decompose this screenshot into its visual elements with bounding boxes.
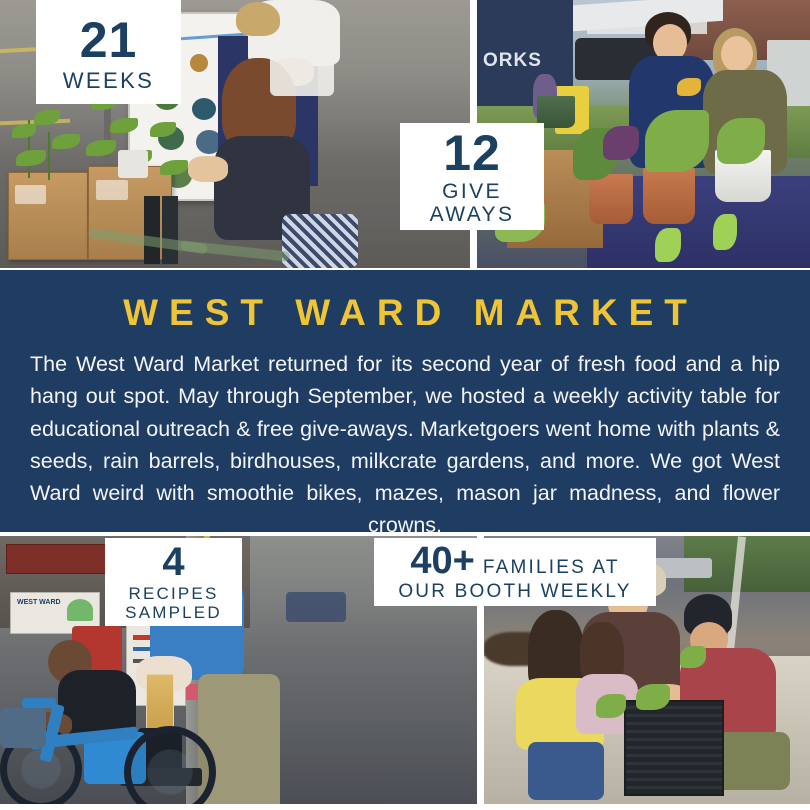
- seedling: [596, 694, 626, 718]
- stat-badge-weeks: 21 WEEKS: [36, 0, 181, 104]
- child-seated-background: [0, 708, 46, 748]
- held-flower: [677, 78, 701, 96]
- whiteboard-sticker: [190, 54, 208, 72]
- terracotta-pot: [643, 168, 695, 224]
- plant-leaf: [86, 140, 116, 156]
- chalk-writing: [180, 240, 290, 261]
- person-bag: [270, 52, 334, 96]
- stat-label-families-line1: FAMILIES AT: [483, 558, 620, 577]
- seedling: [680, 646, 706, 668]
- plant-leaf: [16, 150, 46, 166]
- poster-body: The West Ward Market returned for its se…: [28, 348, 782, 542]
- stat-badge-families: 40+ FAMILIES AT OUR BOOTH WEEKLY: [374, 538, 656, 606]
- tent-banner-text: ORKS: [483, 50, 542, 72]
- plant-leaf: [52, 134, 80, 149]
- smoothie-pitcher: [146, 674, 174, 732]
- stat-label-recipes-line2: SAMPLED: [125, 604, 222, 621]
- stat-label-giveaways-line2: AWAYS: [430, 204, 515, 225]
- stat-badge-recipes: 4 RECIPES SAMPLED: [105, 538, 242, 626]
- paper-leaf-cutout: [655, 228, 681, 262]
- stat-number-families: 40+: [410, 542, 474, 581]
- nursery-pot: [144, 196, 160, 264]
- stat-number-giveaways: 12: [443, 128, 501, 179]
- milk-crate-garden: [624, 700, 724, 796]
- background-vehicle: [286, 592, 346, 622]
- poster-title: WEST WARD MARKET: [28, 292, 782, 334]
- person-hair: [580, 622, 624, 682]
- person-pants: [528, 742, 604, 800]
- white-bucket: [118, 150, 148, 178]
- stat-number-recipes: 4: [162, 542, 184, 583]
- seedling: [636, 684, 670, 710]
- stat-label-giveaways-line1: GIVE: [442, 181, 502, 202]
- person-hair: [236, 2, 280, 36]
- infographic-poster: ORKS: [0, 0, 810, 810]
- spider-plant: [645, 110, 709, 172]
- paper-leaf-cutout: [713, 214, 737, 250]
- market-sign-text: WEST WARD: [17, 599, 61, 606]
- stat-families-line1: 40+ FAMILIES AT: [410, 542, 619, 581]
- stat-number-weeks: 21: [80, 15, 138, 66]
- person-arm: [188, 156, 228, 182]
- stat-label-families-line2: OUR BOOTH WEEKLY: [398, 582, 631, 601]
- stat-label-recipes-line1: RECIPES: [128, 585, 218, 602]
- person-head: [721, 36, 753, 72]
- sign-logo-icon: [67, 599, 93, 621]
- stat-badge-giveaways: 12 GIVE AWAYS: [400, 123, 544, 230]
- stat-label-weeks: WEEKS: [63, 70, 154, 92]
- plant-leaf: [12, 124, 36, 138]
- plant-stem: [48, 132, 50, 180]
- description-band: WEST WARD MARKET The West Ward Market re…: [0, 270, 810, 532]
- whiteboard-photo: [192, 98, 216, 120]
- nursery-pot: [162, 196, 178, 264]
- person-skirt: [282, 214, 358, 268]
- cardboard-box: [8, 172, 88, 260]
- purple-flower: [603, 126, 639, 160]
- bike-handlebar: [22, 698, 56, 708]
- potted-plant: [717, 118, 765, 164]
- terracotta-pot: [589, 174, 633, 224]
- poster-body-text: The West Ward Market returned for its se…: [30, 348, 780, 542]
